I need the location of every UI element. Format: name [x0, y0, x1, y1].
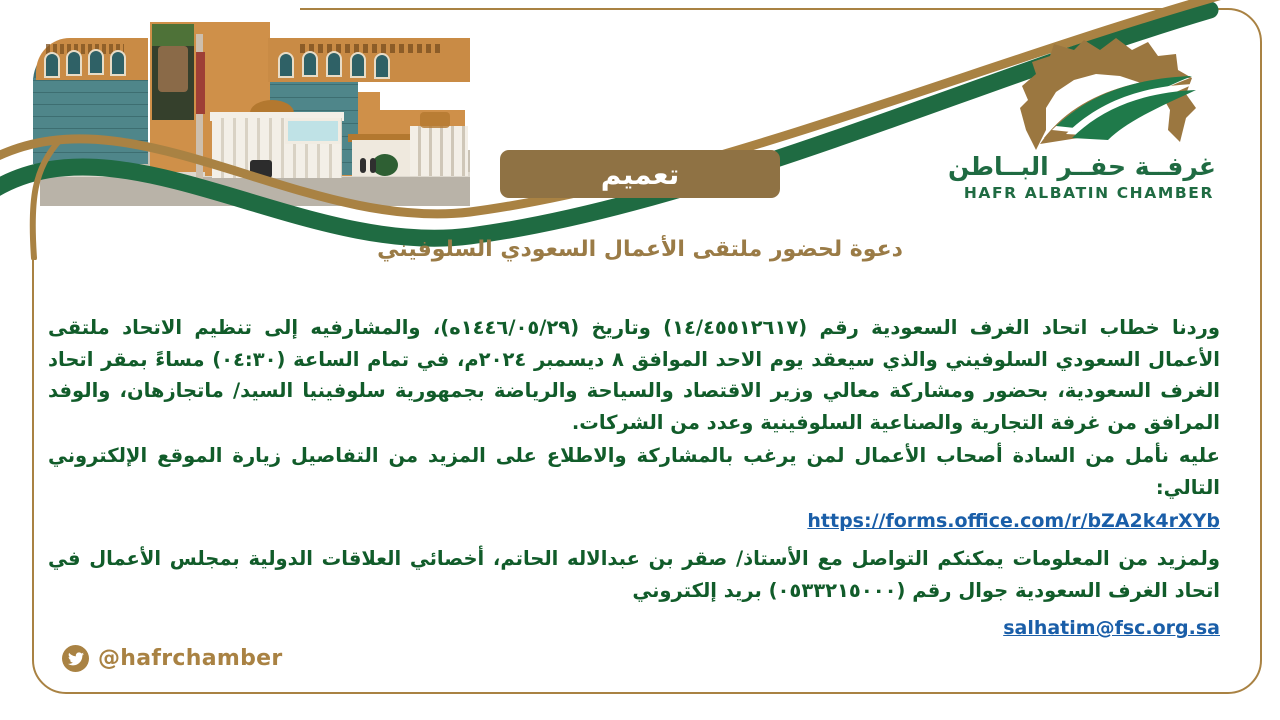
twitter-icon — [62, 645, 89, 672]
circular-badge: تعميم — [500, 150, 780, 198]
form-link[interactable]: https://forms.office.com/r/bZA2k4rXYb — [807, 510, 1220, 532]
twitter-footer[interactable]: @hafrchamber — [62, 645, 283, 672]
form-link-row: https://forms.office.com/r/bZA2k4rXYb — [48, 505, 1220, 537]
email-link-row: salhatim@fsc.org.sa — [48, 612, 1220, 644]
paragraph-intro: وردنا خطاب اتحاد الغرف السعودية رقم (١٤/… — [48, 312, 1220, 438]
chamber-logo: غرفــة حفــر البــاطن HAFR ALBATIN CHAMB… — [992, 34, 1222, 204]
circular-poster: غرفــة حفــر البــاطن HAFR ALBATIN CHAMB… — [0, 0, 1280, 720]
page-title: دعوة لحضور ملتقى الأعمال السعودي السلوفي… — [0, 237, 1280, 262]
paragraph-contact: ولمزيد من المعلومات يمكنكم التواصل مع ال… — [48, 543, 1220, 606]
body-text: وردنا خطاب اتحاد الغرف السعودية رقم (١٤/… — [48, 312, 1220, 644]
paragraph-invitation: عليه نأمل من السادة أصحاب الأعمال لمن ير… — [48, 440, 1220, 503]
chamber-building-photo — [0, 0, 470, 215]
logo-english-name: HAFR ALBATIN CHAMBER — [964, 184, 1214, 202]
logo-arabic-name: غرفــة حفــر البــاطن — [948, 152, 1216, 181]
twitter-handle: @hafrchamber — [98, 646, 283, 671]
logo-mark-icon — [992, 34, 1222, 154]
email-link[interactable]: salhatim@fsc.org.sa — [1003, 617, 1220, 639]
